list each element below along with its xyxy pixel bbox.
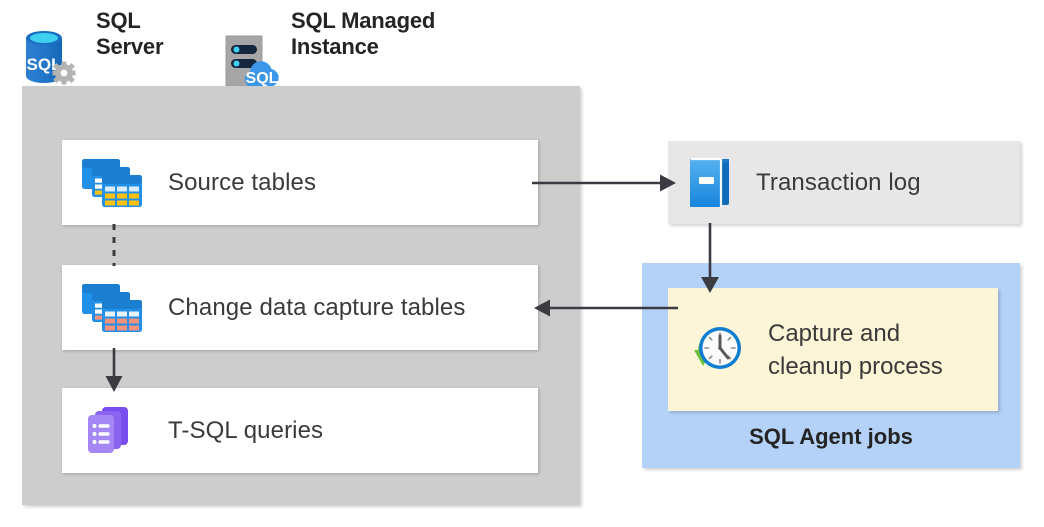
sql-agent-jobs-label: SQL Agent jobs (642, 424, 1020, 450)
sql-managed-instance-icon: SQL (220, 26, 284, 88)
node-label-transaction-log: Transaction log (756, 169, 921, 197)
diagram-canvas: SQL SQL Server (0, 0, 1044, 527)
header-title-sql-server: SQL Server (96, 8, 163, 60)
node-label-source-tables: Source tables (168, 169, 316, 197)
cdc-tables-icon (80, 282, 144, 334)
header-title-sql-managed-instance: SQL Managed Instance (291, 8, 435, 60)
connector-source-tables-to-transaction-log (532, 165, 676, 201)
node-transaction-log[interactable]: Transaction log (668, 141, 1020, 224)
node-cdc-tables[interactable]: Change data capture tables (62, 265, 538, 350)
node-label-cdc-tables: Change data capture tables (168, 294, 465, 322)
connector-capture-cleanup-to-cdc-tables (532, 290, 678, 326)
clock-refresh-icon (690, 322, 746, 378)
connector-source-tables-to-cdc-tables-dashed (96, 224, 132, 266)
transaction-log-book-icon (686, 157, 734, 209)
source-tables-icon (80, 157, 144, 209)
svg-text:SQL: SQL (246, 70, 279, 87)
connector-transaction-log-to-capture-cleanup (690, 223, 730, 293)
node-label-tsql-queries: T-SQL queries (168, 417, 323, 445)
tsql-queries-icon (80, 405, 144, 457)
sql-server-database-icon: SQL (18, 26, 80, 88)
connector-cdc-tables-to-tsql-queries (96, 348, 132, 392)
node-source-tables[interactable]: Source tables (62, 140, 538, 225)
node-tsql-queries[interactable]: T-SQL queries (62, 388, 538, 473)
node-capture-cleanup-process[interactable]: Capture and cleanup process (668, 288, 998, 411)
node-label-capture-cleanup-process: Capture and cleanup process (768, 317, 943, 383)
